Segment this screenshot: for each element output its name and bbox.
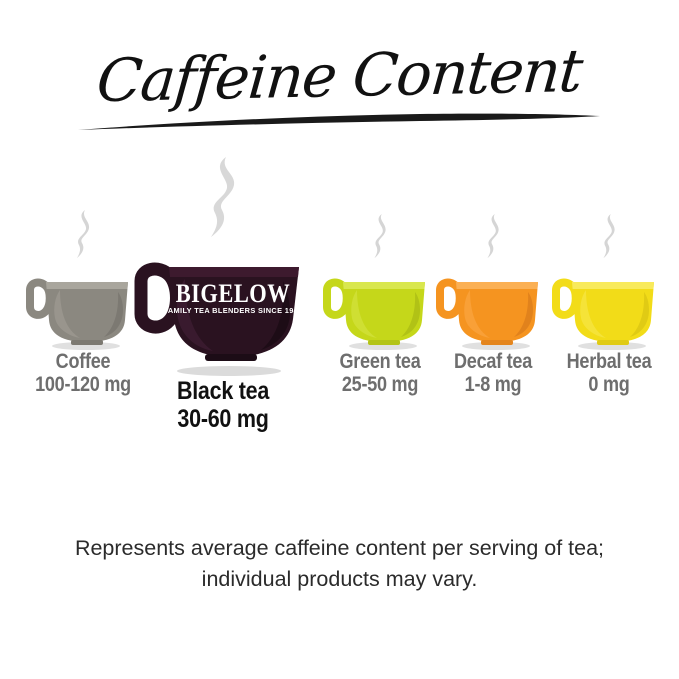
footer-line-1: Represents average caffeine content per … <box>50 533 629 564</box>
cup-item-decaf-tea[interactable]: Decaf tea 1-8 mg <box>432 260 554 398</box>
title-swoosh-decoration <box>0 100 679 142</box>
cup-name-coffee: Coffee <box>23 350 143 374</box>
cup-graphic-black-tea: BIGELOW ® FAMILY TEA BLENDERS SINCE 1945 <box>133 237 313 377</box>
cup-name-black-tea: Black tea <box>141 377 304 405</box>
cups-row: Coffee 100-120 mg BIGELOW ® FAMILY TEA B <box>0 196 679 496</box>
steam-icon-black-tea <box>197 155 249 239</box>
cup-name-decaf-tea: Decaf tea <box>441 350 546 374</box>
cup-amount-herbal-tea: 0 mg <box>554 373 664 398</box>
cup-item-green-tea[interactable]: Green tea 25-50 mg <box>317 260 443 398</box>
cup-graphic-coffee <box>24 260 142 350</box>
cup-amount-black-tea: 30-60 mg <box>141 405 304 435</box>
footer-disclaimer: Represents average caffeine content per … <box>50 533 629 596</box>
cup-name-green-tea: Green tea <box>326 350 434 374</box>
bigelow-logo: BIGELOW ® FAMILY TEA BLENDERS SINCE 1945 <box>163 279 302 315</box>
steam-icon-decaf-tea <box>477 212 509 260</box>
cup-item-black-tea[interactable]: BIGELOW ® FAMILY TEA BLENDERS SINCE 1945… <box>128 237 318 435</box>
cup-name-herbal-tea: Herbal tea <box>554 350 664 374</box>
svg-text:®: ® <box>296 290 302 299</box>
footer-line-2: individual products may vary. <box>50 564 629 595</box>
cup-amount-coffee: 100-120 mg <box>23 373 143 398</box>
svg-text:FAMILY TEA BLENDERS SINCE 1945: FAMILY TEA BLENDERS SINCE 1945 <box>163 306 302 315</box>
header: Caffeine Content <box>0 46 679 106</box>
steam-icon-coffee <box>66 208 100 260</box>
cup-graphic-green-tea <box>321 260 439 350</box>
steam-icon-green-tea <box>364 212 396 260</box>
cup-amount-green-tea: 25-50 mg <box>326 373 434 398</box>
cup-amount-decaf-tea: 1-8 mg <box>441 373 546 398</box>
cup-graphic-herbal-tea <box>550 260 668 350</box>
steam-icon-herbal-tea <box>593 212 625 260</box>
cup-graphic-decaf-tea <box>434 260 552 350</box>
svg-text:BIGELOW: BIGELOW <box>176 279 290 308</box>
cup-item-herbal-tea[interactable]: Herbal tea 0 mg <box>545 260 673 398</box>
